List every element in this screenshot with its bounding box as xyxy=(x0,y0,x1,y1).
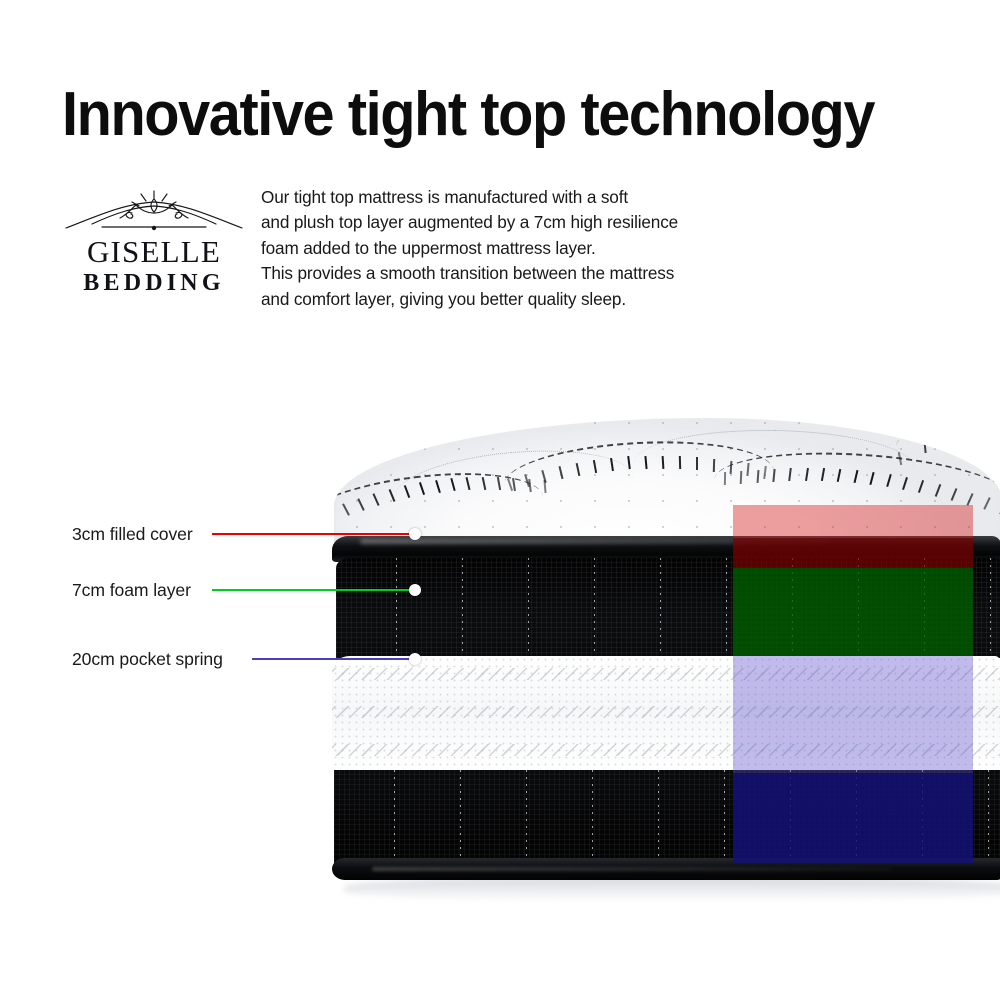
leader-line-pocket-spring xyxy=(252,658,417,660)
leader-line-filled-cover xyxy=(212,533,417,535)
callout-label-filled-cover: 3cm filled cover xyxy=(72,524,193,545)
product-infographic: Innovative tight top technology GISELLE … xyxy=(0,0,1000,1000)
callout-label-pocket-spring: 20cm pocket spring xyxy=(72,649,223,670)
callout-dot-filled-cover xyxy=(409,528,421,540)
callout-dot-foam-layer xyxy=(409,584,421,596)
callout-group: 3cm filled cover 7cm foam layer 20cm poc… xyxy=(0,0,1000,1000)
callout-dot-pocket-spring xyxy=(409,653,421,665)
leader-line-foam-layer xyxy=(212,589,417,591)
callout-label-foam-layer: 7cm foam layer xyxy=(72,580,191,601)
